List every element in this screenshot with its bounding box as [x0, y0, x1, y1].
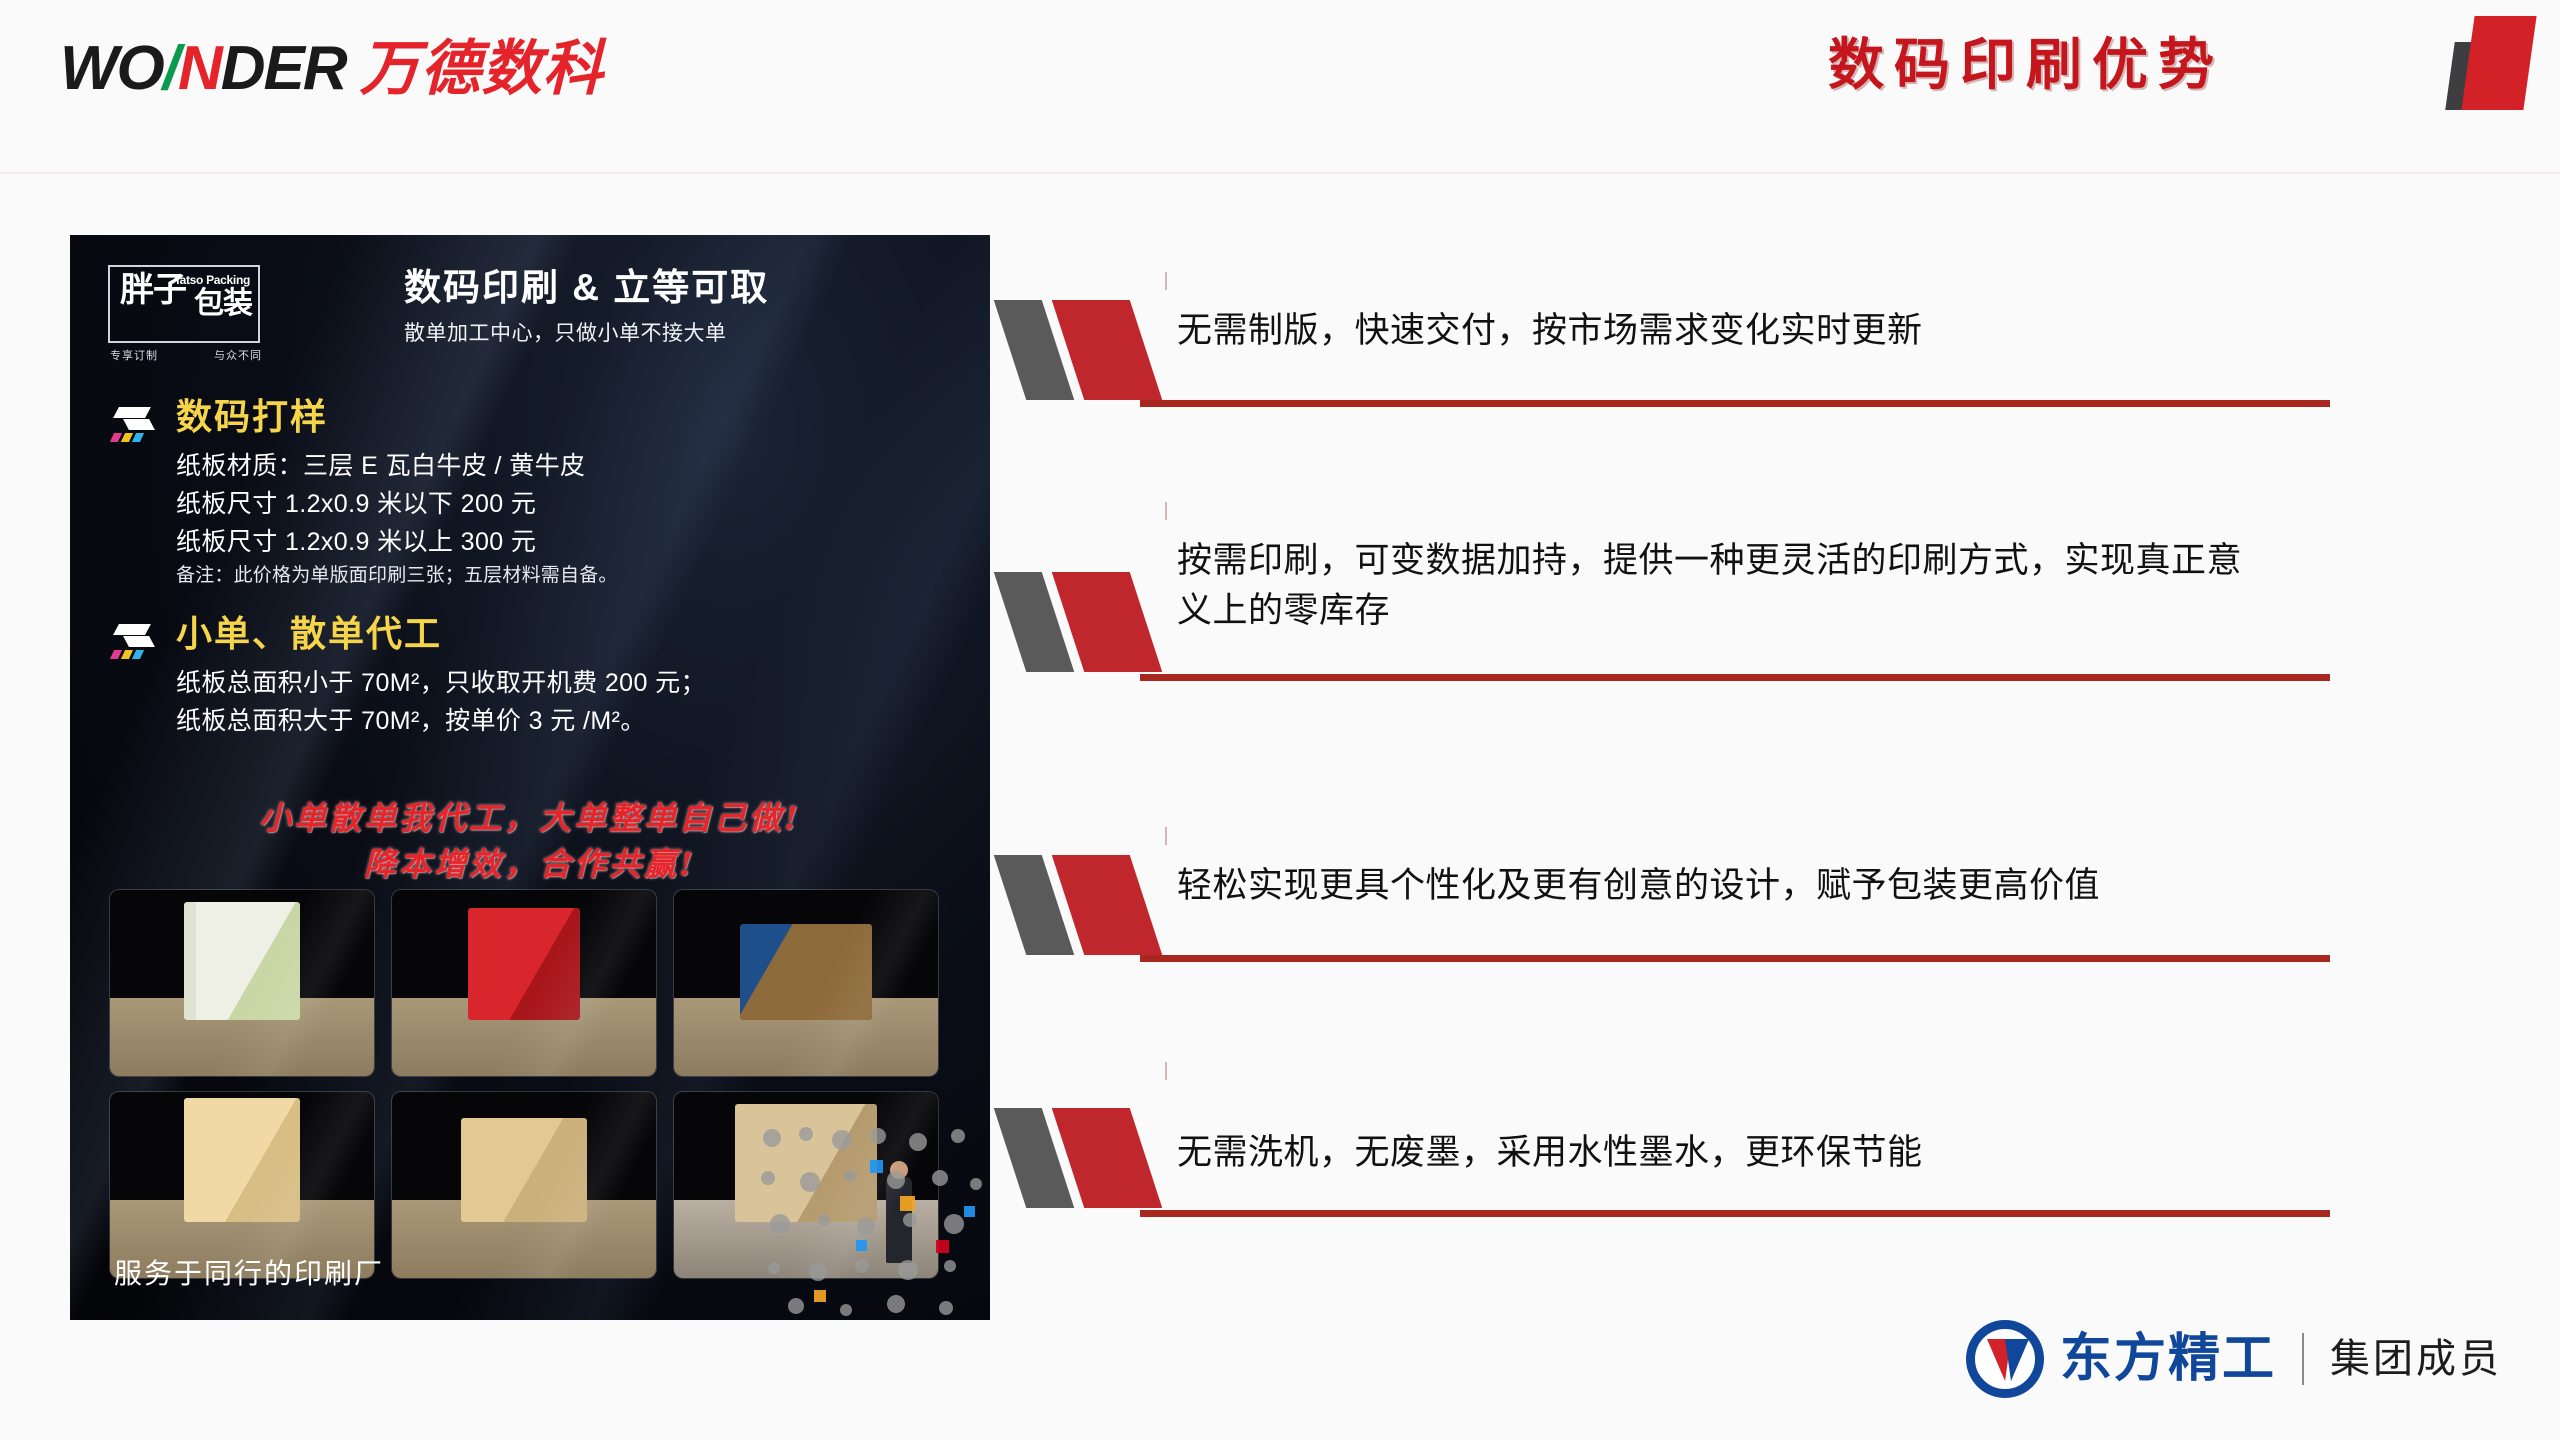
fatso-taglines: 专享订制 与众不同 [110, 347, 262, 363]
wonder-n: N [178, 38, 221, 100]
bullet-marker-icon [1010, 1108, 1190, 1208]
bullet-marker-icon [1010, 855, 1190, 955]
section-title: 小单、散单代工 [176, 616, 442, 652]
chevron-arrow-icon [110, 407, 164, 447]
header-divider [0, 172, 2560, 174]
advantage-underline [1140, 955, 2330, 962]
section-body: 纸板材质：三层 E 瓦白牛皮 / 黄牛皮 纸板尺寸 1.2x0.9 米以下 20… [176, 447, 618, 591]
section-line: 纸板材质：三层 E 瓦白牛皮 / 黄牛皮 [176, 447, 618, 485]
section-line: 纸板总面积大于 70M²，按单价 3 元 /M²。 [176, 702, 706, 740]
poster-subheadline: 散单加工中心，只做小单不接大单 [404, 317, 727, 347]
bullet-marker-icon [1010, 572, 1190, 672]
wonder-brand-logo: WO/NDER 万德数科 [60, 38, 604, 100]
corner-bookmark-icon [2428, 6, 2546, 110]
section-note: 备注：此价格为单版面印刷三张；五层材料需自备。 [176, 561, 618, 591]
slide-root: WO/NDER 万德数科 数码印刷优势 胖子 fatso Packing 包装 … [0, 0, 2560, 1440]
tick-mark [1165, 502, 1167, 520]
classic-kraft-carton-photo [392, 1092, 656, 1278]
poster-slogan: 小单散单我代工，大单整单自己做! 降本增效，合作共赢! [70, 795, 990, 888]
chevron-arrow-icon [110, 624, 164, 664]
dfjg-name: 东方精工 [2060, 1333, 2276, 1385]
wonder-brand-cn: 万德数科 [360, 39, 604, 99]
wonder-green-slash: / [163, 38, 178, 100]
poster-footer-text: 服务于同行的印刷厂 [114, 1252, 384, 1292]
tick-mark [1165, 272, 1167, 290]
wonder-wordmark: WO/NDER [60, 38, 346, 100]
poster-headline: 数码印刷 & 立等可取 [404, 267, 769, 310]
advantage-underline [1140, 400, 2330, 407]
honey-gift-box-photo [110, 890, 374, 1076]
slogan-line-1: 小单散单我代工，大单整单自己做! [70, 795, 990, 841]
bullet-marker-icon [1010, 300, 1190, 400]
tick-mark [1165, 1062, 1167, 1080]
beef-carton-photo [674, 890, 938, 1076]
fatso-cn-line2: 包装 [194, 289, 252, 319]
poster-header: 胖子 fatso Packing 包装 专享订制 与众不同 数码印刷 & 立等可… [104, 259, 964, 379]
fatso-tag-right: 与众不同 [214, 347, 262, 363]
halftone-dots-decoration [750, 1120, 990, 1320]
advantage-text: 轻松实现更具个性化及更有创意的设计，赋予包装更高价值 [1177, 861, 2267, 911]
section-body: 纸板总面积小于 70M²，只收取开机费 200 元； 纸板总面积大于 70M²，… [176, 664, 706, 740]
dongfang-jinggong-logo: 东方精工 集团成员 [1966, 1316, 2502, 1402]
fatso-logo-frame: 胖子 fatso Packing 包装 [108, 265, 260, 343]
dfjg-shield-icon [1966, 1320, 2044, 1398]
advantage-underline [1140, 674, 2330, 681]
kraft-handle-box-photo [110, 1092, 374, 1278]
slogan-line-2: 降本增效，合作共赢! [70, 841, 990, 887]
fatso-tag-left: 专享订制 [110, 347, 158, 363]
advantage-text: 按需印刷，可变数据加持，提供一种更灵活的印刷方式，实现真正意义上的零库存 [1177, 536, 2267, 635]
wonder-der: DER [221, 38, 346, 100]
fatso-en-name: fatso Packing [176, 273, 250, 287]
advantage-text: 无需制版，快速交付，按市场需求变化实时更新 [1177, 306, 2267, 356]
dfjg-member-label: 集团成员 [2330, 1339, 2502, 1379]
section-line: 纸板尺寸 1.2x0.9 米以上 300 元 [176, 523, 618, 561]
logo-divider [2302, 1333, 2304, 1385]
section-line: 纸板总面积小于 70M²，只收取开机费 200 元； [176, 664, 706, 702]
advantage-text: 无需洗机，无废墨，采用水性墨水，更环保节能 [1177, 1128, 2267, 1178]
section-title: 数码打样 [176, 399, 328, 435]
corner-red-shape [2461, 16, 2536, 110]
advantage-underline [1140, 1210, 2330, 1217]
promo-poster-image: 胖子 fatso Packing 包装 专享订制 与众不同 数码印刷 & 立等可… [70, 235, 990, 1320]
wonder-wo: WO [60, 38, 163, 100]
page-title: 数码印刷优势 [1828, 34, 2224, 96]
tick-mark [1165, 827, 1167, 845]
section-line: 纸板尺寸 1.2x0.9 米以下 200 元 [176, 485, 618, 523]
red-food-gift-box-photo [392, 890, 656, 1076]
